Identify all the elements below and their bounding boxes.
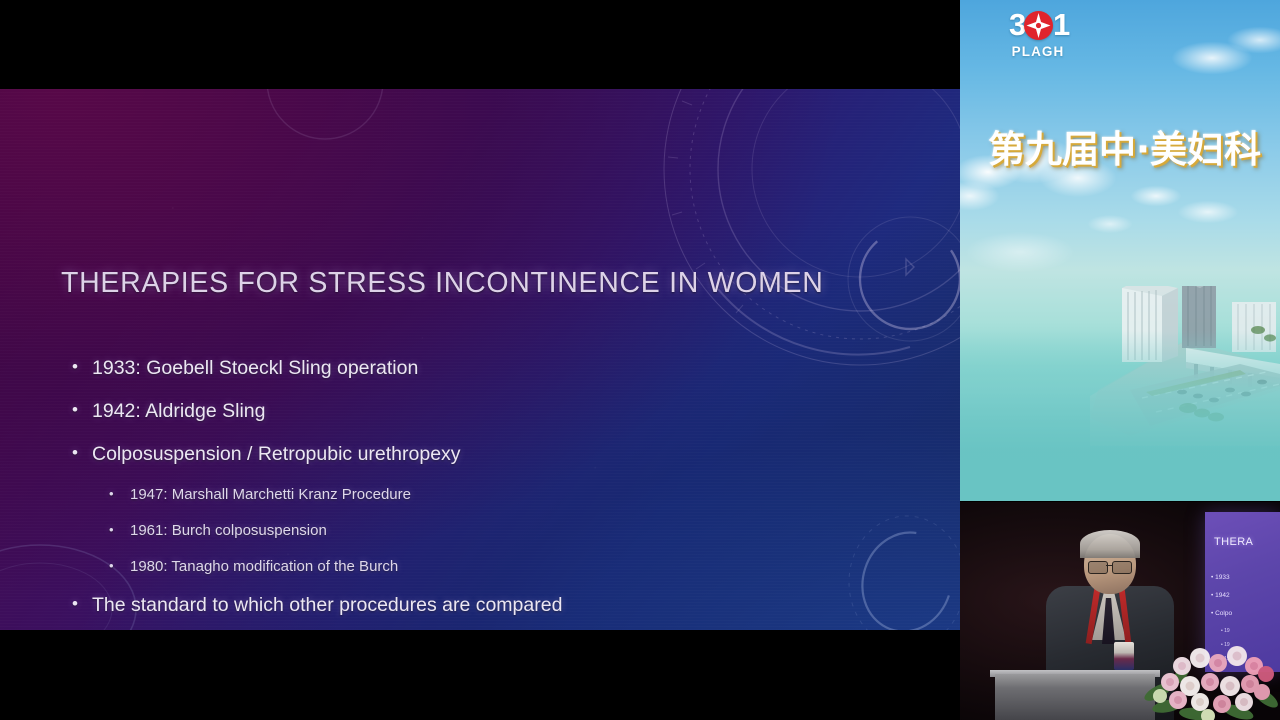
- flower-arrangement: [1142, 630, 1280, 720]
- logo-digit-right: 1: [1053, 9, 1070, 41]
- bullet-text: The standard to which other procedures a…: [92, 594, 562, 617]
- bullet-text: 1933: Goebell Stoeckl Sling operation: [92, 357, 418, 380]
- projected-bullet: • Colpo: [1211, 610, 1232, 617]
- sub-bullet-item: • 1947: Marshall Marchetti Kranz Procedu…: [72, 486, 902, 503]
- bullet-marker-icon: •: [72, 443, 92, 461]
- speaker-badge: [1114, 642, 1134, 670]
- banner-mist-overlay: [960, 330, 1280, 501]
- podium: [995, 674, 1155, 720]
- bullet-item: • Colposuspension / Retropubic urethrope…: [72, 443, 902, 466]
- cloud-graphic: [960, 0, 1280, 501]
- sub-bullet-item: • 1980: Tanagho modification of the Burc…: [72, 558, 902, 575]
- plagh-logo: 3 1 PLAGH: [1009, 9, 1067, 61]
- bullet-marker-icon: •: [72, 357, 92, 375]
- slide-bullet-list: • 1933: Goebell Stoeckl Sling operation …: [72, 357, 902, 630]
- slide-stage: THERAPIES FOR STRESS INCONTINENCE IN WOM…: [0, 0, 960, 720]
- bullet-marker-icon: •: [109, 522, 130, 536]
- sub-bullet-item: • 1961: Burch colposuspension: [72, 522, 902, 539]
- bullet-marker-icon: •: [109, 558, 130, 572]
- projected-bullet: • 1942: [1211, 592, 1230, 599]
- bullet-marker-icon: •: [72, 594, 92, 612]
- bullet-item: • 1933: Goebell Stoeckl Sling operation: [72, 357, 902, 380]
- bullet-text: 1942: Aldridge Sling: [92, 400, 265, 423]
- bullet-item: • The standard to which other procedures…: [72, 594, 902, 617]
- eyeglasses-icon: [1088, 561, 1134, 572]
- bullet-marker-icon: •: [72, 400, 92, 418]
- medical-star-icon: [1024, 11, 1053, 40]
- logo-wordmark: PLAGH: [1009, 44, 1067, 59]
- projected-bullet: • 1933: [1211, 574, 1230, 581]
- presentation-slide[interactable]: THERAPIES FOR STRESS INCONTINENCE IN WOM…: [0, 89, 960, 630]
- speaker-hair: [1080, 530, 1140, 558]
- bullet-item: • 1942: Aldridge Sling: [72, 400, 902, 423]
- slide-title: THERAPIES FOR STRESS INCONTINENCE IN WOM…: [61, 267, 901, 300]
- bullet-marker-icon: •: [109, 486, 130, 500]
- conference-title: 第九届中·美妇科: [988, 128, 1280, 172]
- bullet-text: 1961: Burch colposuspension: [130, 522, 327, 539]
- logo-mark: 3 1: [1009, 9, 1067, 43]
- tech-ring-large-icon: [660, 89, 960, 369]
- livestream-screen: THERAPIES FOR STRESS INCONTINENCE IN WOM…: [0, 0, 1280, 720]
- bullet-text: Colposuspension / Retropubic urethropexy: [92, 443, 461, 466]
- bullet-text: 1947: Marshall Marchetti Kranz Procedure: [130, 486, 411, 503]
- conference-banner: [960, 0, 1280, 501]
- bullet-text: 1980: Tanagho modification of the Burch: [130, 558, 398, 575]
- tech-arc-top-icon: [250, 89, 400, 161]
- speaker-camera-feed[interactable]: THERA • 1933 • 1942 • Colpo • 19 • 19 • …: [960, 502, 1280, 720]
- projected-slide-title: THERA: [1214, 536, 1253, 548]
- right-panel: 第九届中·美妇科 THERA • 1933 • 1942 • Colpo • 1…: [960, 0, 1280, 720]
- hospital-campus-illustration: [1090, 286, 1280, 446]
